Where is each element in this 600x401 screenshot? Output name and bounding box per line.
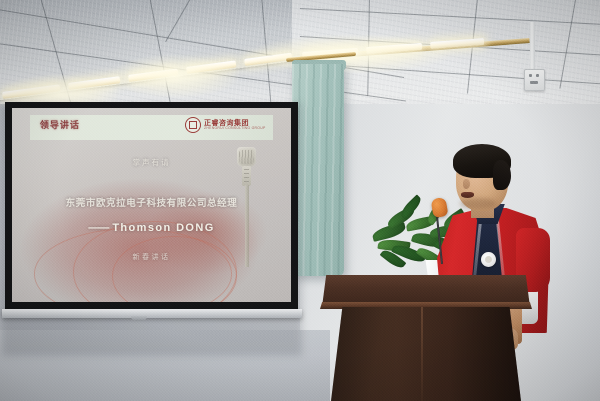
slide-subtitle: 掌声有请 (12, 157, 291, 168)
slide-header-banner: 领导讲话 正睿咨询集团 ZHENGRUI CONSULTING GROUP (30, 115, 273, 140)
slide-name-text: Thomson DONG (112, 222, 214, 234)
ceiling-light-glow (110, 54, 240, 98)
hair-side (493, 160, 511, 190)
slide-speaker-name: ——Thomson DONG (12, 222, 291, 234)
logo-text: 正睿咨询集团 ZHENGRUI CONSULTING GROUP (204, 120, 266, 130)
slide-footer-line: 新春讲话 (12, 252, 291, 262)
mic-neck (242, 166, 251, 186)
slide-main-line: 东莞市欧克拉电子科技有限公司总经理 (12, 195, 291, 209)
slide-name-dash: —— (88, 222, 108, 234)
screen-pull-handle[interactable] (131, 316, 147, 321)
logo-mark-icon (185, 117, 201, 133)
logo-english-name: ZHENGRUI CONSULTING GROUP (204, 127, 266, 130)
company-logo: 正睿咨询集团 ZHENGRUI CONSULTING GROUP (185, 117, 266, 133)
projection-screen-surface: 领导讲话 正睿咨询集团 ZHENGRUI CONSULTING GROUP 掌声… (12, 108, 291, 302)
flower-badge-pin (481, 252, 496, 267)
photograph-conference-room: 领导讲话 正睿咨询集团 ZHENGRUI CONSULTING GROUP 掌声… (0, 0, 600, 401)
lectern-shading (331, 307, 521, 401)
mouth (461, 192, 474, 198)
presentation-slide: 领导讲话 正睿咨询集团 ZHENGRUI CONSULTING GROUP 掌声… (12, 108, 291, 302)
slide-header-title: 领导讲话 (40, 118, 80, 131)
wall-power-outlet[interactable] (524, 69, 545, 91)
screen-bottom-bar[interactable] (2, 309, 302, 318)
chin-shadow (460, 198, 496, 209)
wall-conduit (530, 22, 535, 70)
